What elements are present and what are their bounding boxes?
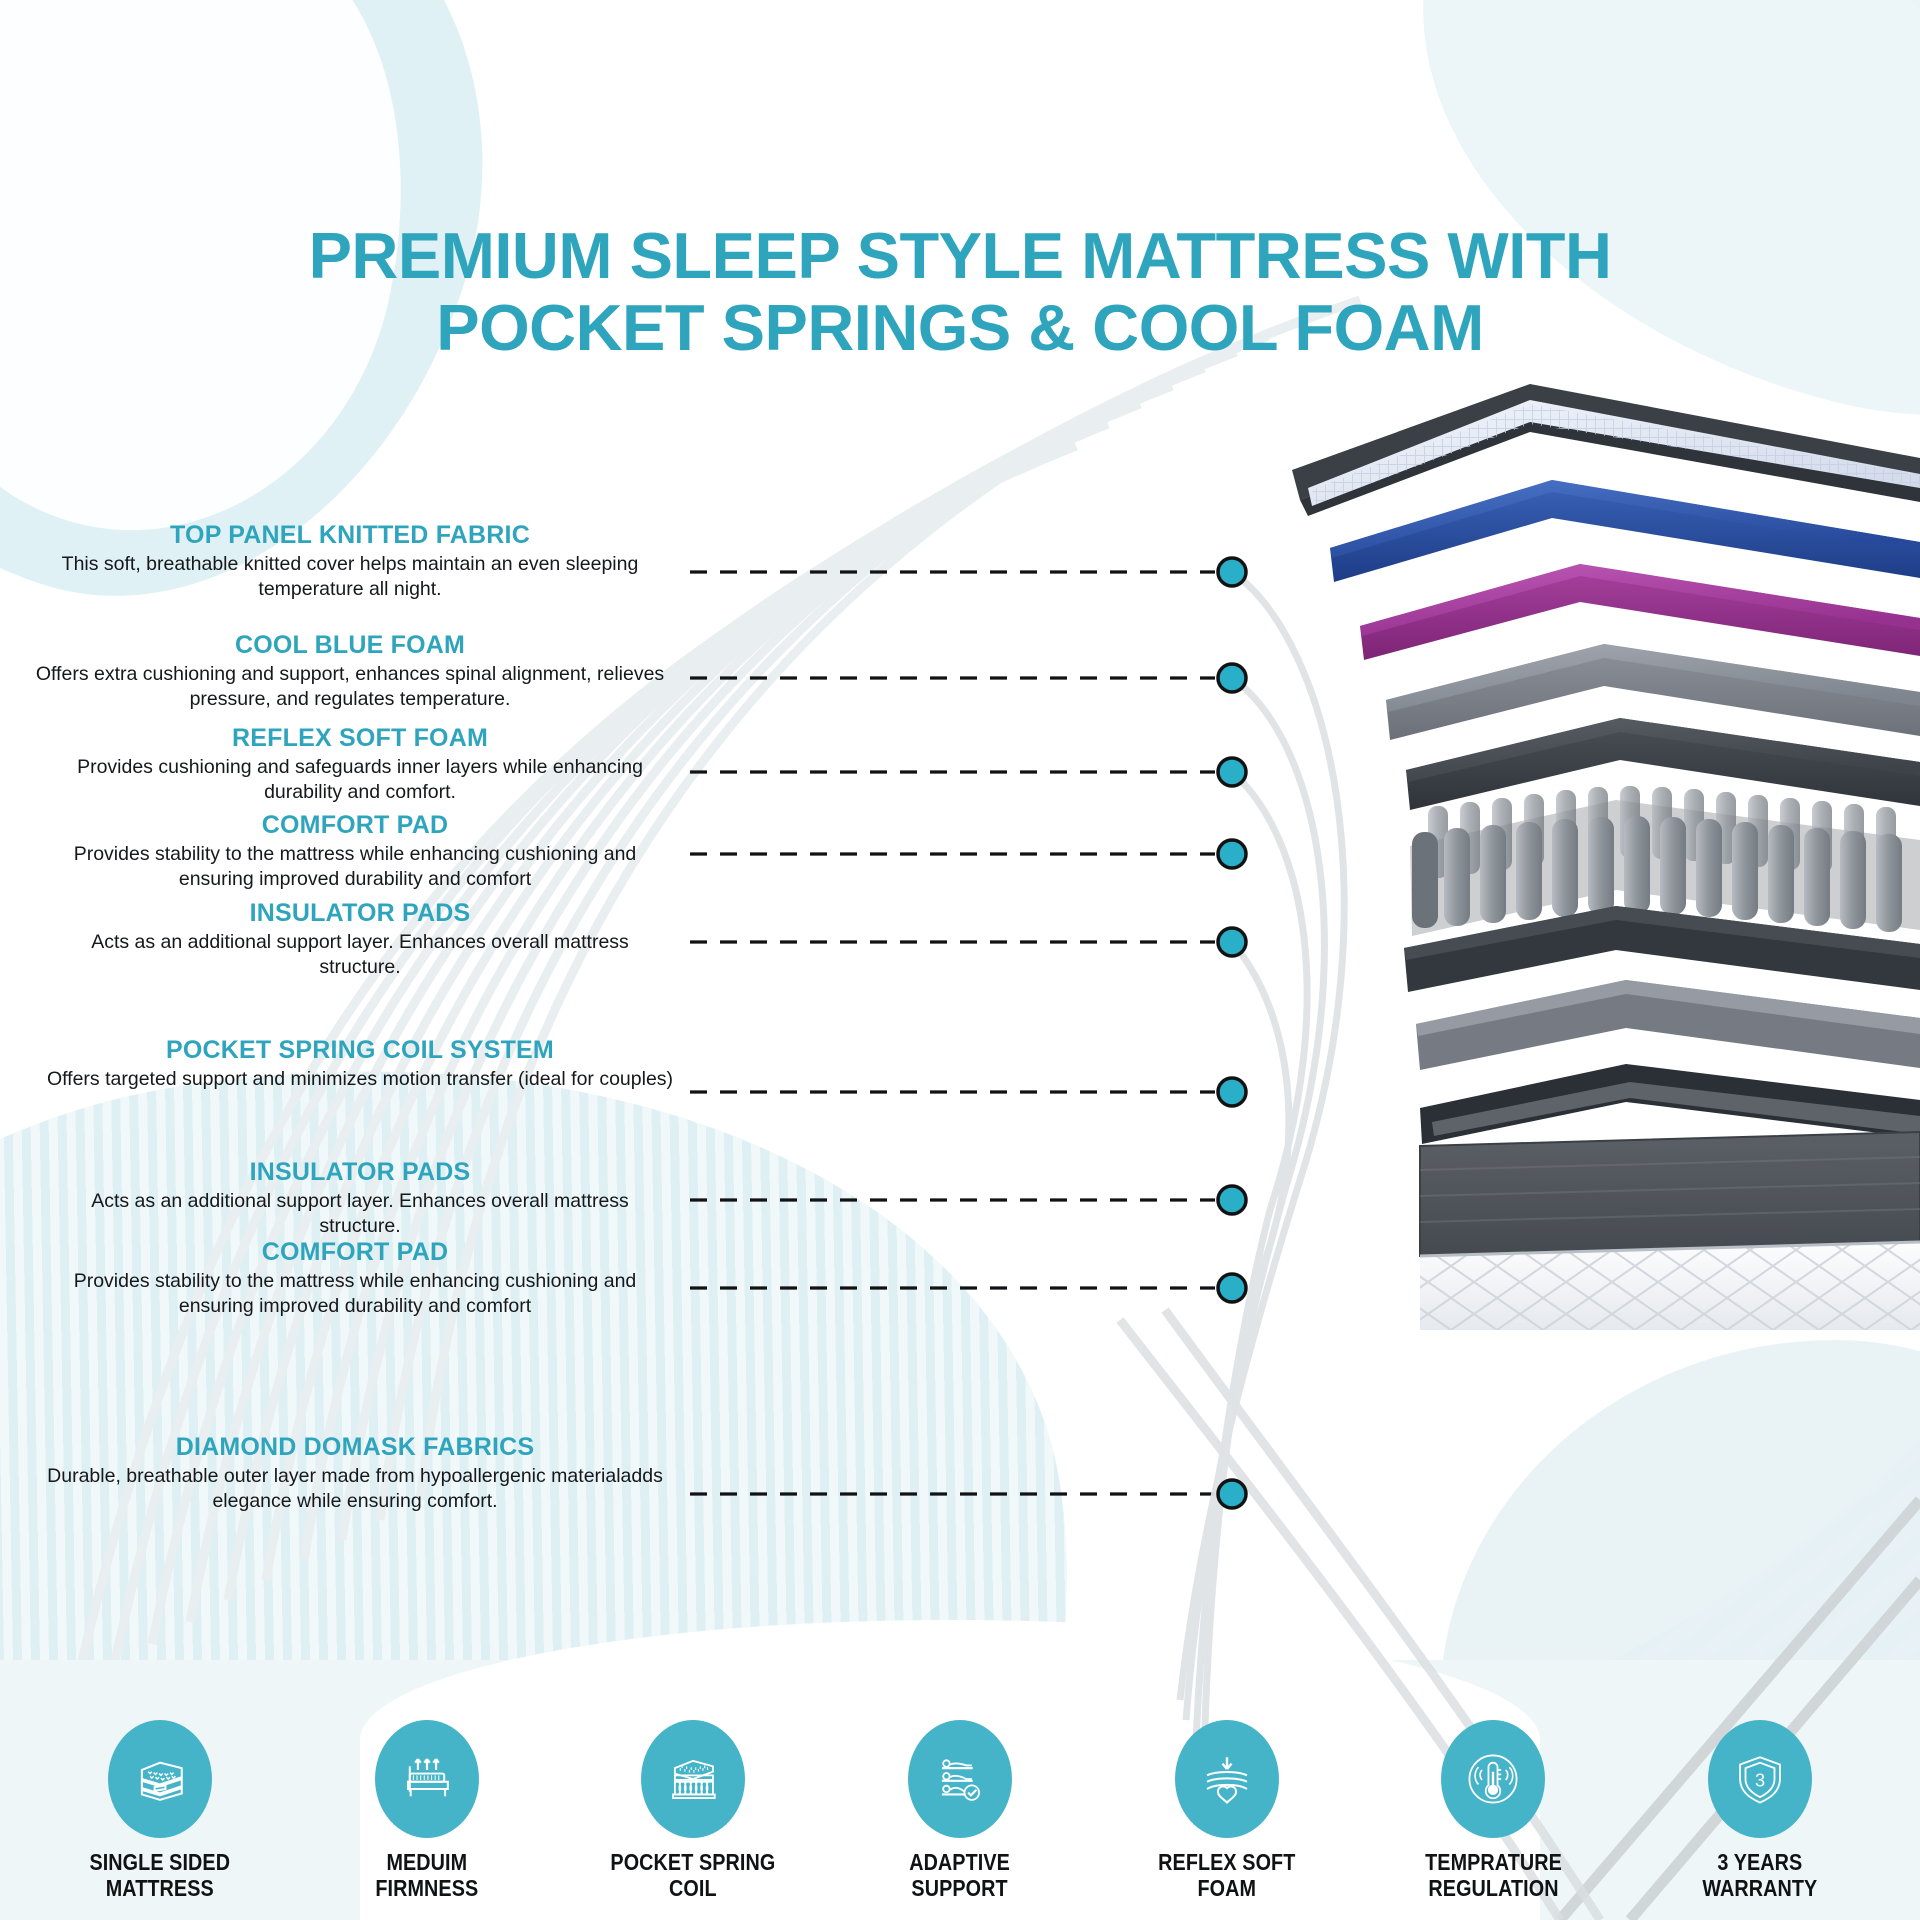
callout-list: TOP PANEL KNITTED FABRIC This soft, brea… — [0, 0, 1920, 1920]
callout-title: REFLEX SOFT FOAM — [60, 723, 660, 753]
callout-description: Offers targeted support and minimizes mo… — [40, 1067, 680, 1092]
callout-description: Provides stability to the mattress while… — [40, 842, 670, 891]
feature-label-line-2: WARRANTY — [1702, 1876, 1817, 1902]
feature-label-line-1: MEDUIM — [375, 1850, 478, 1876]
feature-label: SINGLE SIDED MATTRESS — [90, 1850, 231, 1902]
callout-insulator-pads-lower: INSULATOR PADS Acts as an additional sup… — [60, 1157, 660, 1238]
feature-label-line-2: MATTRESS — [90, 1876, 231, 1902]
adaptive-support-icon — [931, 1750, 989, 1808]
feature-icon-circle — [1441, 1720, 1545, 1838]
callout-title: COOL BLUE FOAM — [30, 630, 670, 660]
feature-icon-circle — [1175, 1720, 1279, 1838]
feature-label: MEDUIM FIRMNESS — [375, 1850, 478, 1902]
feature-reflex-soft-foam[interactable]: REFLEX SOFT FOAM — [1127, 1720, 1327, 1920]
callout-description: Acts as an additional support layer. Enh… — [60, 930, 660, 979]
callout-description: Acts as an additional support layer. Enh… — [60, 1189, 660, 1238]
bed-firmness-arrows-icon — [398, 1750, 456, 1808]
feature-label-line-2: COIL — [611, 1876, 776, 1902]
feature-warranty[interactable]: 3 3 YEARS WARRANTY — [1660, 1720, 1860, 1920]
reflex-soft-foam-icon — [1198, 1750, 1256, 1808]
feature-icon-circle — [908, 1720, 1012, 1838]
callout-description: Provides stability to the mattress while… — [40, 1269, 670, 1318]
callout-description: This soft, breathable knitted cover help… — [40, 552, 660, 601]
callout-reflex-soft-foam: REFLEX SOFT FOAM Provides cushioning and… — [60, 723, 660, 804]
callout-title: COMFORT PAD — [40, 810, 670, 840]
feature-medium-firmness[interactable]: MEDUIM FIRMNESS — [327, 1720, 527, 1920]
callout-pocket-spring-coil-system: POCKET SPRING COIL SYSTEM Offers targete… — [40, 1035, 680, 1092]
callout-title: POCKET SPRING COIL SYSTEM — [40, 1035, 680, 1065]
feature-label-line-2: FOAM — [1158, 1876, 1295, 1902]
warranty-badge-number: 3 — [1755, 1770, 1765, 1790]
feature-label-line-1: SINGLE SIDED — [90, 1850, 231, 1876]
mattress-single-sided-icon — [131, 1750, 189, 1808]
feature-label-line-1: TEMPRATURE — [1425, 1850, 1562, 1876]
callout-description: Durable, breathable outer layer made fro… — [30, 1464, 680, 1513]
feature-label: ADAPTIVE SUPPORT — [910, 1850, 1011, 1902]
callout-diamond-domask-fabrics: DIAMOND DOMASK FABRICS Durable, breathab… — [30, 1432, 680, 1513]
feature-icon-circle — [641, 1720, 745, 1838]
feature-adaptive-support[interactable]: ADAPTIVE SUPPORT — [860, 1720, 1060, 1920]
feature-label-line-2: FIRMNESS — [375, 1876, 478, 1902]
callout-title: INSULATOR PADS — [60, 898, 660, 928]
feature-pocket-spring-coil[interactable]: POCKET SPRING COIL — [593, 1720, 793, 1920]
thermometer-icon — [1464, 1750, 1522, 1808]
feature-label-line-1: POCKET SPRING — [611, 1850, 776, 1876]
shield-warranty-icon: 3 — [1731, 1750, 1789, 1808]
feature-single-sided-mattress[interactable]: SINGLE SIDED MATTRESS — [60, 1720, 260, 1920]
feature-icon-circle — [375, 1720, 479, 1838]
feature-label: TEMPRATURE REGULATION — [1425, 1850, 1562, 1902]
callout-description: Offers extra cushioning and support, enh… — [30, 662, 670, 711]
callout-comfort-pad-upper: COMFORT PAD Provides stability to the ma… — [40, 810, 670, 891]
feature-label-line-1: ADAPTIVE — [910, 1850, 1011, 1876]
callout-title: TOP PANEL KNITTED FABRIC — [40, 520, 660, 550]
callout-title: COMFORT PAD — [40, 1237, 670, 1267]
callout-cool-blue-foam: COOL BLUE FOAM Offers extra cushioning a… — [30, 630, 670, 711]
callout-title: DIAMOND DOMASK FABRICS — [30, 1432, 680, 1462]
feature-label: 3 YEARS WARRANTY — [1702, 1850, 1817, 1902]
callout-top-panel-knitted-fabric: TOP PANEL KNITTED FABRIC This soft, brea… — [40, 520, 660, 601]
feature-temperature-regulation[interactable]: TEMPRATURE REGULATION — [1393, 1720, 1593, 1920]
callout-comfort-pad-lower: COMFORT PAD Provides stability to the ma… — [40, 1237, 670, 1318]
feature-icon-circle — [108, 1720, 212, 1838]
feature-label: REFLEX SOFT FOAM — [1158, 1850, 1295, 1902]
feature-label: POCKET SPRING COIL — [611, 1850, 776, 1902]
feature-list: SINGLE SIDED MATTRESS — [0, 1720, 1920, 1920]
feature-icon-circle: 3 — [1708, 1720, 1812, 1838]
pocket-spring-coil-icon — [664, 1750, 722, 1808]
callout-title: INSULATOR PADS — [60, 1157, 660, 1187]
feature-label-line-2: SUPPORT — [910, 1876, 1011, 1902]
feature-label-line-1: 3 YEARS — [1702, 1850, 1817, 1876]
feature-label-line-1: REFLEX SOFT — [1158, 1850, 1295, 1876]
callout-insulator-pads-upper: INSULATOR PADS Acts as an additional sup… — [60, 898, 660, 979]
callout-description: Provides cushioning and safeguards inner… — [60, 755, 660, 804]
feature-label-line-2: REGULATION — [1425, 1876, 1562, 1902]
infographic-canvas: PREMIUM SLEEP STYLE MATTRESS WITH POCKET… — [0, 0, 1920, 1920]
